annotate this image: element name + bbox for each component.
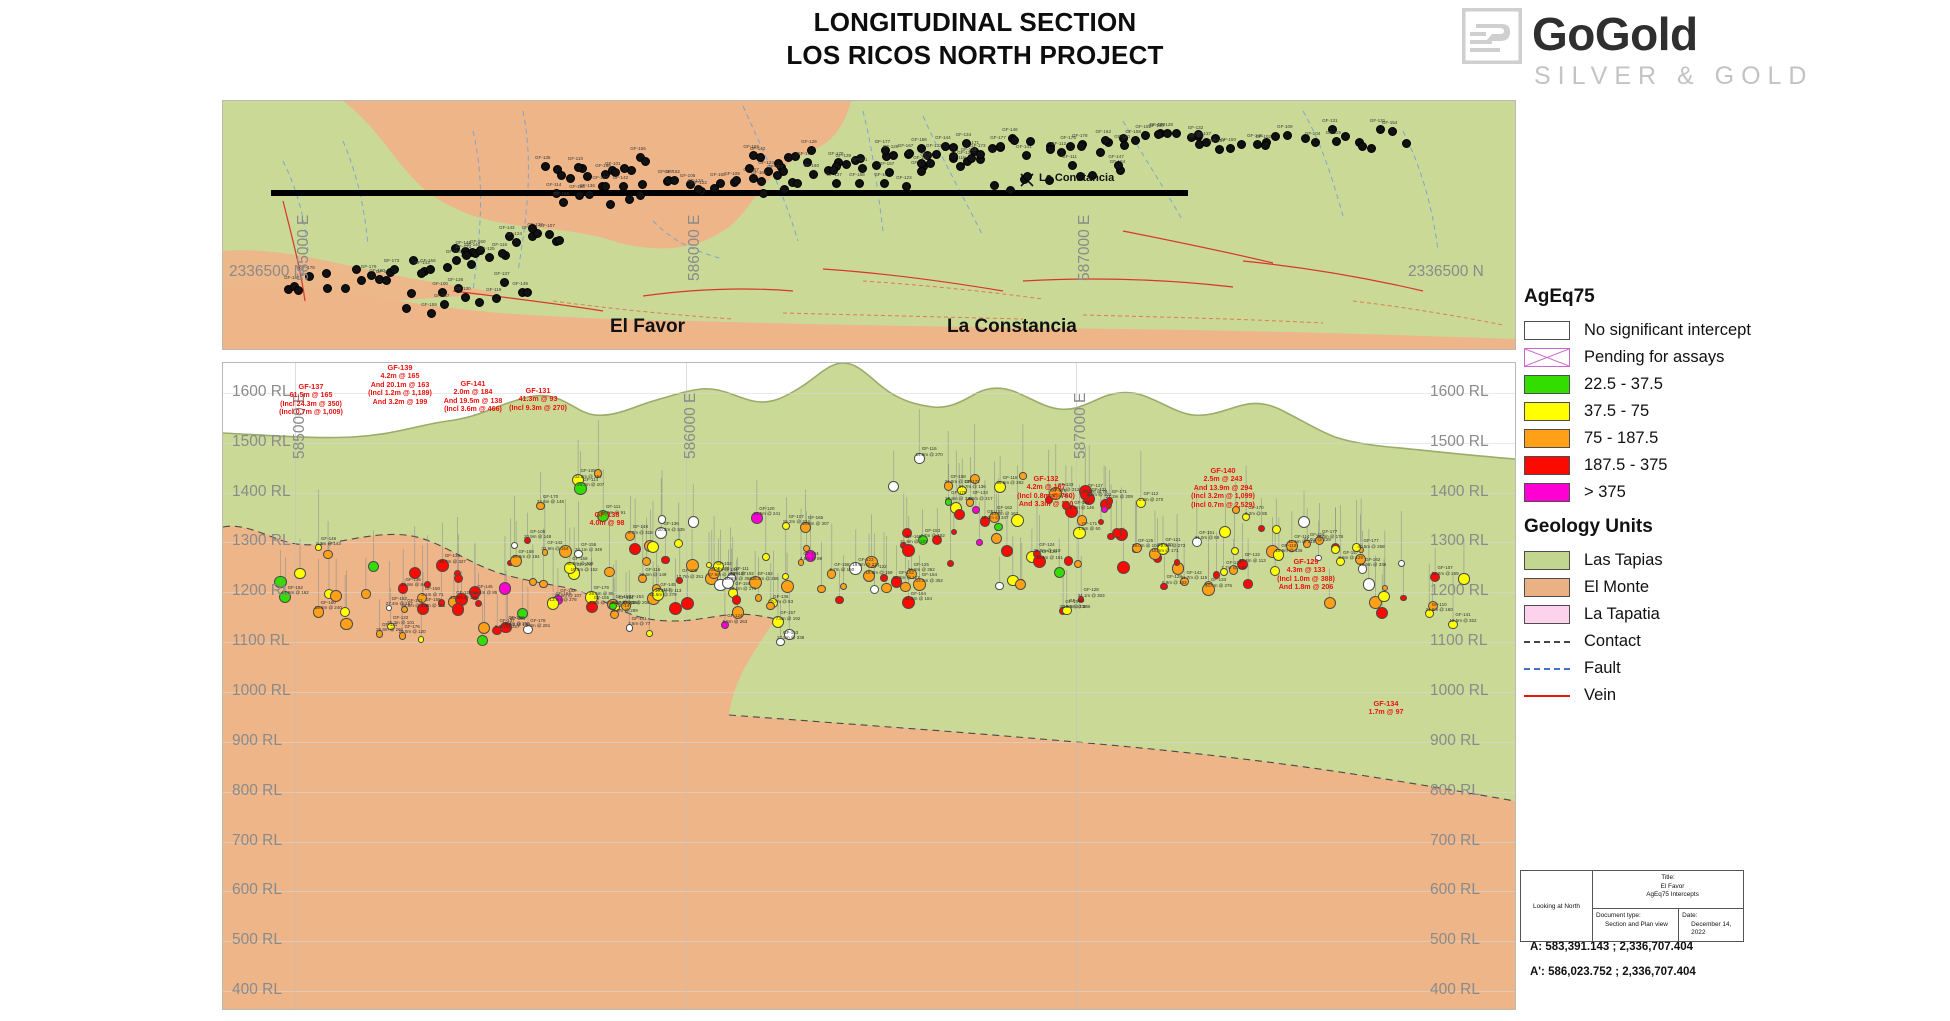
rl-label-right-1400: 1400 RL bbox=[1430, 483, 1489, 501]
hole-mini-label: GF-17740.5m @ 268 bbox=[1358, 538, 1385, 549]
plan-hole-id: GF-142 bbox=[750, 146, 766, 151]
date-value: December 14, 2022 bbox=[1682, 921, 1743, 938]
hole-mini-label: GF-15940.2m @ 229 bbox=[566, 556, 593, 567]
legend-label-geo-2: La Tapatia bbox=[1584, 605, 1660, 624]
hole-mini-label: GF-1469.7m @ 143 bbox=[316, 536, 341, 547]
logo-tagline: SILVER & GOLD bbox=[1534, 62, 1814, 90]
intercept-dot bbox=[529, 578, 537, 586]
section-easting-587000: 587000 E bbox=[1072, 393, 1090, 459]
hole-mini-label: GF-15534.1m @ 349 bbox=[575, 542, 602, 553]
legend-swatch-ageq-4 bbox=[1524, 429, 1570, 448]
rl-label-right-700: 700 RL bbox=[1430, 832, 1480, 850]
gridline-1100 bbox=[223, 642, 1515, 643]
plan-easting-587000: 587000 E bbox=[1076, 215, 1094, 281]
gridline-500 bbox=[223, 941, 1515, 942]
legend-swatch-geo-2 bbox=[1524, 605, 1570, 624]
plan-hole-id: GF-101 bbox=[605, 161, 621, 166]
legend-title-ageq: AgEq75 bbox=[1524, 286, 1944, 308]
intercept-dot bbox=[1117, 561, 1130, 574]
intercept-dot bbox=[681, 597, 694, 610]
label-la-constancia: La Constancia bbox=[947, 316, 1077, 338]
intercept-dot bbox=[511, 542, 518, 549]
plan-hole-id: GF-123 bbox=[896, 175, 912, 180]
plan-hole-id: GF-114 bbox=[546, 182, 561, 187]
hole-mini-label: GF-17237.7m @ 136 bbox=[959, 479, 986, 490]
plan-hole-id: GF-158 bbox=[1125, 129, 1141, 134]
legend-label-ageq-3: 37.5 - 75 bbox=[1584, 402, 1649, 421]
legend-row-geo-2: La Tapatia bbox=[1524, 601, 1944, 628]
intercept-dot bbox=[647, 541, 659, 553]
rl-label-left-1100: 1100 RL bbox=[232, 632, 289, 650]
intercept-dot bbox=[475, 600, 482, 607]
plan-hole-id: GF-159 bbox=[421, 302, 437, 307]
plan-hole-id: GF-116 bbox=[492, 242, 507, 247]
plan-hole-id: GF-119 bbox=[486, 287, 501, 292]
section-vgrid-585000 bbox=[295, 363, 296, 1009]
title-block-title: Title: El Favor AgEq75 Intercepts bbox=[1593, 871, 1743, 909]
rl-label-left-1400: 1400 RL bbox=[232, 483, 291, 501]
hole-mini-label: GF-13938.7m @ 327 bbox=[439, 553, 466, 564]
date-label: Date: bbox=[1682, 912, 1743, 921]
gridline-400 bbox=[223, 991, 1515, 992]
intercept-dot bbox=[1054, 567, 1065, 578]
intercept-dot bbox=[1400, 595, 1406, 601]
intercept-dot bbox=[1272, 525, 1281, 534]
section-easting-586000: 586000 E bbox=[682, 393, 700, 459]
plan-hole-id: GF-122 bbox=[592, 175, 608, 180]
gridline-700 bbox=[223, 842, 1515, 843]
intercept-dot bbox=[1324, 597, 1336, 609]
plan-hole-id: GF-158 bbox=[849, 172, 865, 177]
page-header: LONGITUDINAL SECTION LOS RICOS NORTH PRO… bbox=[0, 0, 1950, 92]
plan-drill-collar bbox=[1096, 148, 1105, 157]
plan-drill-collar bbox=[583, 172, 592, 181]
hole-mini-label: GF-1711.5m @ 60 bbox=[1078, 521, 1100, 532]
intercept-dot bbox=[954, 509, 965, 520]
hole-mini-label: GF-17121.3m @ 209 bbox=[1106, 489, 1133, 500]
plan-drill-collar bbox=[1077, 142, 1086, 151]
hole-mini-label: GF-12834.1m @ 303 bbox=[1078, 587, 1105, 598]
legend-row-ageq-5: 187.5 - 375 bbox=[1524, 452, 1944, 479]
intercept-dot bbox=[539, 580, 547, 588]
plan-hole-id: GF-142 bbox=[613, 175, 629, 180]
plan-drill-collar bbox=[357, 276, 366, 285]
legend-label-ageq-4: 75 - 187.5 bbox=[1584, 429, 1658, 448]
intercept-dot bbox=[835, 596, 843, 604]
intercept-dot bbox=[1398, 560, 1405, 567]
plan-drill-collar bbox=[932, 150, 941, 159]
hole-mini-label: GF-13720.2m @ 356 bbox=[725, 571, 752, 582]
coordinate-a-prime: A': 586,023.752 ; 2,336,707.404 bbox=[1530, 960, 1696, 985]
intercept-dot bbox=[1382, 585, 1388, 591]
plan-drill-collar bbox=[636, 191, 645, 200]
title-line-1: LONGITUDINAL SECTION bbox=[560, 6, 1390, 39]
plan-hole-id: GF-124 bbox=[506, 231, 522, 236]
hole-mini-label: GF-14516.3m @ 113 bbox=[655, 582, 682, 593]
intercept-dot bbox=[1231, 547, 1239, 555]
hole-mini-label: GF-1489.7m @ 318 bbox=[628, 524, 653, 535]
plan-drill-collar bbox=[1154, 130, 1163, 139]
callout-gf-138: GF-1384.0m @ 98 bbox=[590, 511, 625, 528]
hole-mini-label: GF-15826.6m @ 194 bbox=[513, 549, 540, 560]
legend-label-ageq-2: 22.5 - 37.5 bbox=[1584, 375, 1663, 394]
hole-mini-label: GF-16515.8m @ 307 bbox=[802, 515, 829, 526]
drawing-title-block: Looking at North Title: El Favor AgEq75 … bbox=[1520, 870, 1744, 942]
callout-gf-134: GF-1341.7m @ 97 bbox=[1369, 700, 1404, 717]
rl-label-left-600: 600 RL bbox=[232, 881, 282, 899]
plan-drill-collar bbox=[443, 263, 452, 272]
rl-label-right-1600: 1600 RL bbox=[1430, 383, 1489, 401]
plan-drill-collar bbox=[858, 164, 867, 173]
plan-drill-collar bbox=[842, 160, 851, 169]
plan-hole-id: GF-131 bbox=[1322, 118, 1338, 123]
intercept-dot bbox=[1101, 506, 1108, 513]
plan-drill-collar bbox=[528, 224, 537, 233]
plan-view-canvas bbox=[223, 101, 1515, 349]
plan-hole-id: GF-110 bbox=[568, 156, 583, 161]
plan-hole-id: GF-129 bbox=[883, 144, 899, 149]
hole-mini-label: GF-13340.4m @ 276 bbox=[1205, 577, 1232, 588]
document-date: Date: December 14, 2022 bbox=[1679, 909, 1743, 941]
longitudinal-section-view[interactable]: 585000 E 586000 E 587000 E El Favor La C… bbox=[222, 362, 1516, 1010]
legend-swatch-ageq-5 bbox=[1524, 456, 1570, 475]
rl-label-right-400: 400 RL bbox=[1430, 981, 1480, 999]
intercept-dot bbox=[499, 582, 511, 594]
plan-drill-collar bbox=[917, 159, 926, 168]
plan-hole-id: GF-154 bbox=[1382, 120, 1398, 125]
hole-mini-label: GF-13620.3m @ 335 bbox=[658, 521, 685, 532]
plan-easting-586000: 586000 E bbox=[686, 215, 704, 281]
plan-hole-id: GF-135 bbox=[535, 155, 551, 160]
doc-value: Section and Plan view bbox=[1596, 921, 1678, 930]
plan-drill-collar bbox=[574, 163, 583, 172]
plan-hole-id: GF-173 bbox=[384, 258, 400, 263]
legend-row-ageq-4: 75 - 187.5 bbox=[1524, 425, 1944, 452]
intercept-dot bbox=[323, 550, 332, 559]
legend-swatch-ageq-6 bbox=[1524, 483, 1570, 502]
hole-mini-label: GF-12727.6m @ 76 bbox=[1083, 483, 1108, 494]
company-logo: GoGold SILVER & GOLD bbox=[1462, 6, 1942, 90]
plan-hole-id: GF-113 bbox=[767, 164, 782, 169]
plan-drill-collar bbox=[1283, 131, 1292, 140]
rl-label-left-1200: 1200 RL bbox=[232, 582, 291, 600]
plan-hole-id: GF-156 bbox=[630, 146, 646, 151]
plan-hole-id: GF-137 bbox=[494, 271, 510, 276]
legend-row-ageq-0: No significant intercept bbox=[1524, 317, 1944, 344]
legend-row-geo-1: El Monte bbox=[1524, 574, 1944, 601]
intercept-dot bbox=[688, 516, 699, 527]
hole-mini-label: GF-1121.2m @ 270 bbox=[1139, 491, 1164, 502]
plan-hole-id: GF-124 bbox=[688, 178, 704, 183]
plan-hole-id: GF-125 bbox=[479, 246, 495, 251]
intercept-dot bbox=[629, 543, 641, 555]
plan-hole-id: GF-146 bbox=[1002, 127, 1018, 132]
plan-drill-collar bbox=[541, 162, 550, 171]
legend-row-geo-0: Las Tapias bbox=[1524, 547, 1944, 574]
intercept-dot bbox=[604, 567, 614, 577]
plan-hole-id: GF-119 bbox=[1326, 130, 1341, 135]
plan-drill-collar bbox=[294, 286, 303, 295]
plan-site-label: La Constancia bbox=[1039, 172, 1114, 184]
plan-drill-collar bbox=[1068, 161, 1077, 170]
intercept-dot bbox=[1174, 559, 1181, 566]
rl-label-left-800: 800 RL bbox=[232, 782, 282, 800]
hole-mini-label: GF-1413.6m @ 77 bbox=[628, 616, 650, 627]
plan-drill-collar bbox=[1261, 141, 1270, 150]
plan-drill-collar bbox=[889, 151, 898, 160]
plan-drill-collar bbox=[498, 249, 507, 258]
callout-gf-129: GF-1294.3m @ 133(Incl 1.0m @ 388)And 1.8… bbox=[1277, 558, 1335, 592]
hole-mini-label: GF-12526.8m @ 352 bbox=[908, 562, 935, 573]
hole-mini-label: GF-16213.8m @ 162 bbox=[991, 505, 1018, 516]
plan-drill-collar bbox=[829, 166, 838, 175]
plan-drill-collar bbox=[462, 251, 471, 260]
legend-row-ageq-6: > 375 bbox=[1524, 479, 1944, 506]
legend-label-geo-5: Vein bbox=[1584, 686, 1616, 705]
plan-hole-id: GF-105 bbox=[680, 173, 696, 178]
hole-mini-label: GF-16413.6m @ 278 bbox=[550, 591, 577, 602]
plan-drill-collar bbox=[1131, 136, 1140, 145]
plan-drill-collar bbox=[1367, 144, 1376, 153]
plan-hole-id: GF-156 bbox=[420, 258, 436, 263]
plan-drill-collar bbox=[716, 179, 725, 188]
gridline-1400 bbox=[223, 493, 1515, 494]
hole-mini-label: GF-1212.0m @ 273 bbox=[1161, 537, 1186, 548]
plan-hole-id: GF-111 bbox=[1062, 154, 1077, 159]
gridline-1200 bbox=[223, 592, 1515, 593]
callout-gf-139: GF-1394.2m @ 165And 20.1m @ 163(Incl 1.2… bbox=[368, 364, 432, 406]
plan-hole-id: GF-139 bbox=[836, 153, 852, 158]
plan-view-map[interactable]: GF-167GF-176GF-179GF-100GF-145GF-173GF-1… bbox=[222, 100, 1516, 350]
hole-mini-label: GF-15337.6m @ 208 bbox=[622, 594, 649, 605]
plan-drill-collar bbox=[1402, 139, 1411, 148]
plan-hole-id: GF-147 bbox=[1108, 154, 1124, 159]
plan-drill-collar bbox=[322, 269, 331, 278]
plan-hole-id: GF-112 bbox=[1051, 141, 1066, 146]
rl-label-right-600: 600 RL bbox=[1430, 881, 1480, 899]
legend-swatch-pending bbox=[1524, 348, 1570, 367]
legend-swatch-geo-1 bbox=[1524, 578, 1570, 597]
plan-drill-collar bbox=[625, 195, 634, 204]
hole-mini-label: GF-15033.1m @ 171 bbox=[729, 581, 756, 592]
intercept-dot bbox=[361, 589, 371, 599]
hole-mini-label: GF-10732.2m @ 259 bbox=[1432, 565, 1459, 576]
legend-swatch-geo-0 bbox=[1524, 551, 1570, 570]
legend-row-geo-4: Fault bbox=[1524, 655, 1944, 682]
gridline-900 bbox=[223, 742, 1515, 743]
rl-label-right-500: 500 RL bbox=[1430, 931, 1480, 949]
callout-gf-132: GF-1324.2m @ 167(Incl 0.8m @ 760)And 3.3… bbox=[1017, 475, 1075, 509]
hole-mini-label: GF-1576.8m @ 129 bbox=[1338, 550, 1363, 561]
plan-hole-id: GF-177 bbox=[990, 135, 1006, 140]
hole-mini-label: GF-1577.5m @ 192 bbox=[776, 610, 801, 621]
plan-hole-id: GF-156 bbox=[911, 137, 927, 142]
hole-mini-label: GF-11622.6m @ 149 bbox=[639, 567, 666, 578]
legend-label-geo-4: Fault bbox=[1584, 659, 1621, 678]
intercept-dot bbox=[340, 618, 353, 631]
legend-label-ageq-1: Pending for assays bbox=[1584, 348, 1724, 367]
plan-drill-collar bbox=[452, 256, 461, 265]
gridline-600 bbox=[223, 891, 1515, 892]
plan-drill-collar bbox=[555, 236, 564, 245]
hole-mini-label: GF-12218.0m @ 159 bbox=[865, 564, 892, 575]
legend-row-ageq-3: 37.5 - 75 bbox=[1524, 398, 1944, 425]
rl-label-left-1300: 1300 RL bbox=[232, 532, 291, 550]
gridline-1500 bbox=[223, 443, 1515, 444]
rl-label-right-1000: 1000 RL bbox=[1430, 682, 1489, 700]
document-type: Document type: Section and Plan view bbox=[1593, 909, 1679, 941]
rl-label-left-400: 400 RL bbox=[232, 981, 282, 999]
plan-hole-id: GF-134 bbox=[956, 132, 972, 137]
hole-mini-label: GF-17034.6m @ 146 bbox=[537, 494, 564, 505]
plan-hole-id: GF-100 bbox=[432, 281, 448, 286]
legend-label-ageq-6: > 375 bbox=[1584, 483, 1626, 502]
legend-label-geo-3: Contact bbox=[1584, 632, 1641, 651]
eagle-logo-icon bbox=[1462, 8, 1522, 64]
plan-hole-id: GF-157 bbox=[434, 293, 450, 298]
hole-mini-label: GF-13630.7m @ 83 bbox=[768, 594, 793, 605]
plan-hole-id: GF-136 bbox=[448, 277, 464, 282]
hole-mini-label: GF-11426.3m @ 207 bbox=[577, 477, 604, 488]
plan-hole-id: GF-178 bbox=[1072, 133, 1088, 138]
legend-line-geo-3 bbox=[1524, 641, 1570, 643]
plan-hole-id: GF-173 bbox=[970, 143, 986, 148]
hole-mini-label: GF-1503.1m @ 71 bbox=[421, 586, 443, 597]
plan-drill-collar bbox=[1332, 137, 1341, 146]
hole-mini-label: GF-14211.7m @ 115 bbox=[1181, 570, 1207, 581]
plan-drill-collar bbox=[1172, 129, 1181, 138]
plan-drill-collar bbox=[967, 154, 976, 163]
hole-mini-label: GF-16414.5m @ 352 bbox=[916, 572, 943, 583]
plan-drill-collar bbox=[756, 153, 765, 162]
callout-gf-140: GF-1402.5m @ 243And 13.9m @ 294(Incl 3.2… bbox=[1191, 467, 1255, 509]
logo-wordmark: GoGold bbox=[1532, 6, 1698, 62]
legend-title-geology: Geology Units bbox=[1524, 516, 1944, 538]
title-value-2: AgEq75 Intercepts bbox=[1593, 891, 1743, 900]
rl-label-right-1500: 1500 RL bbox=[1430, 433, 1489, 451]
plan-north-label-right: 2336500 N bbox=[1408, 263, 1484, 281]
section-vgrid-587000 bbox=[1076, 363, 1077, 1009]
hole-mini-label: GF-10917.7m @ 251 bbox=[676, 568, 703, 579]
intercept-dot bbox=[976, 539, 983, 546]
hole-mini-label: GF-14112.5m @ 322 bbox=[1449, 612, 1476, 623]
plan-drill-collar bbox=[1237, 140, 1246, 149]
rl-label-right-1300: 1300 RL bbox=[1430, 532, 1489, 550]
hole-mini-label: GF-14232.9m @ 154 bbox=[541, 540, 568, 551]
page-title: LONGITUDINAL SECTION LOS RICOS NORTH PRO… bbox=[560, 6, 1390, 72]
section-vgrid-586000 bbox=[686, 363, 687, 1009]
plan-hole-id: GF-166 bbox=[553, 191, 569, 196]
hole-mini-label: GF-12023.5m @ 241 bbox=[753, 506, 780, 517]
legend-row-ageq-1: Pending for assays bbox=[1524, 344, 1944, 371]
plan-drill-collar bbox=[902, 182, 911, 191]
plan-hole-id: GF-157 bbox=[879, 161, 895, 166]
rl-label-left-1000: 1000 RL bbox=[232, 682, 291, 700]
plan-drill-collar bbox=[1388, 127, 1397, 136]
plan-drill-collar bbox=[1341, 132, 1350, 141]
plan-hole-id: GF-167 bbox=[898, 143, 914, 148]
hole-mini-label: GF-1246.5m @ 263 bbox=[723, 613, 748, 624]
title-line-2: LOS RICOS NORTH PROJECT bbox=[560, 39, 1390, 72]
intercept-dot bbox=[1219, 526, 1231, 538]
legend-ageq-rows: No significant interceptPending for assa… bbox=[1524, 317, 1944, 506]
plan-hole-id: GF-150 bbox=[446, 249, 462, 254]
section-endpoint-coordinates: A: 583,391.143 ; 2,336,707.404 A': 586,0… bbox=[1530, 935, 1696, 985]
rl-label-right-900: 900 RL bbox=[1430, 732, 1480, 750]
gridline-1000 bbox=[223, 692, 1515, 693]
intercept-dot bbox=[781, 580, 794, 593]
section-canvas bbox=[223, 363, 1515, 1009]
intercept-dot bbox=[840, 583, 847, 590]
hole-mini-label: GF-1334.5m @ 217 bbox=[968, 490, 993, 501]
hole-mini-label: GF-13216.4m @ 113 bbox=[1239, 552, 1266, 563]
plan-hole-id: GF-144 bbox=[935, 135, 951, 140]
plan-drill-collar bbox=[1358, 142, 1367, 151]
intercept-dot bbox=[294, 568, 306, 580]
hole-mini-label: GF-16236.3m @ 256 bbox=[752, 571, 779, 582]
intercept-dot bbox=[646, 630, 653, 637]
plan-drill-collar bbox=[557, 171, 566, 180]
hole-mini-label: GF-15131.0m @ 69 bbox=[1195, 530, 1220, 541]
plan-hole-id: GF-130 bbox=[455, 286, 471, 291]
gridline-800 bbox=[223, 792, 1515, 793]
hole-mini-label: GF-10620.9m @ 148 bbox=[524, 529, 551, 540]
legend-label-ageq-0: No significant intercept bbox=[1584, 321, 1751, 340]
rl-label-left-1500: 1500 RL bbox=[232, 433, 291, 451]
plan-hole-id: GF-162 bbox=[1095, 129, 1111, 134]
hole-mini-label: GF-11915.6m @ 136 bbox=[1275, 543, 1302, 554]
plan-drill-collar bbox=[390, 265, 399, 274]
plan-drill-collar bbox=[885, 168, 894, 177]
title-value-1: El Favor bbox=[1593, 883, 1743, 892]
hole-mini-label: GF-11614.8m @ 270 bbox=[916, 446, 943, 457]
rl-label-right-800: 800 RL bbox=[1430, 782, 1480, 800]
title-label: Title: bbox=[1593, 874, 1743, 883]
hole-mini-label: GF-1554.3m @ 161 bbox=[421, 597, 446, 608]
plan-drill-collar bbox=[757, 177, 766, 186]
plan-hole-id: GF-129 bbox=[801, 139, 817, 144]
plan-drill-collar bbox=[627, 166, 636, 175]
legend-swatch-ageq-3 bbox=[1524, 402, 1570, 421]
intercept-dot bbox=[762, 553, 770, 561]
plan-drill-collar bbox=[1376, 125, 1385, 134]
hole-mini-label: GF-11021.6m @ 160 bbox=[1426, 602, 1453, 613]
intercept-dot bbox=[1243, 579, 1252, 588]
intercept-dot bbox=[452, 603, 464, 615]
rl-label-left-500: 500 RL bbox=[232, 931, 282, 949]
plan-hole-id: GF-160 bbox=[470, 239, 486, 244]
plan-hole-id: GF-102 bbox=[1255, 134, 1271, 139]
plan-hole-id: GF-143 bbox=[499, 225, 515, 230]
plan-drill-collar bbox=[1311, 138, 1320, 147]
plan-hole-id: GF-104 bbox=[1305, 131, 1321, 136]
legend-row-ageq-2: 22.5 - 37.5 bbox=[1524, 371, 1944, 398]
rl-label-left-700: 700 RL bbox=[232, 832, 282, 850]
intercept-dot bbox=[870, 585, 879, 594]
plan-drill-collar bbox=[1026, 137, 1035, 146]
intercept-dot bbox=[972, 506, 980, 514]
intercept-dot bbox=[1112, 528, 1122, 538]
doc-label: Document type: bbox=[1596, 912, 1678, 921]
intercept-dot bbox=[1378, 591, 1389, 602]
hole-mini-label: GF-12633.4m @ 151 bbox=[1036, 549, 1063, 560]
hole-mini-label: GF-1534.7m @ 182 bbox=[920, 528, 945, 539]
plan-easting-585000: 585000 E bbox=[295, 215, 313, 281]
callout-gf-141: GF-1412.0m @ 184And 19.5m @ 138(Incl 3.6… bbox=[444, 380, 503, 414]
legend-label-geo-1: El Monte bbox=[1584, 578, 1649, 597]
rl-label-right-1100: 1100 RL bbox=[1430, 632, 1487, 650]
plan-hole-id: GF-171 bbox=[852, 157, 868, 162]
